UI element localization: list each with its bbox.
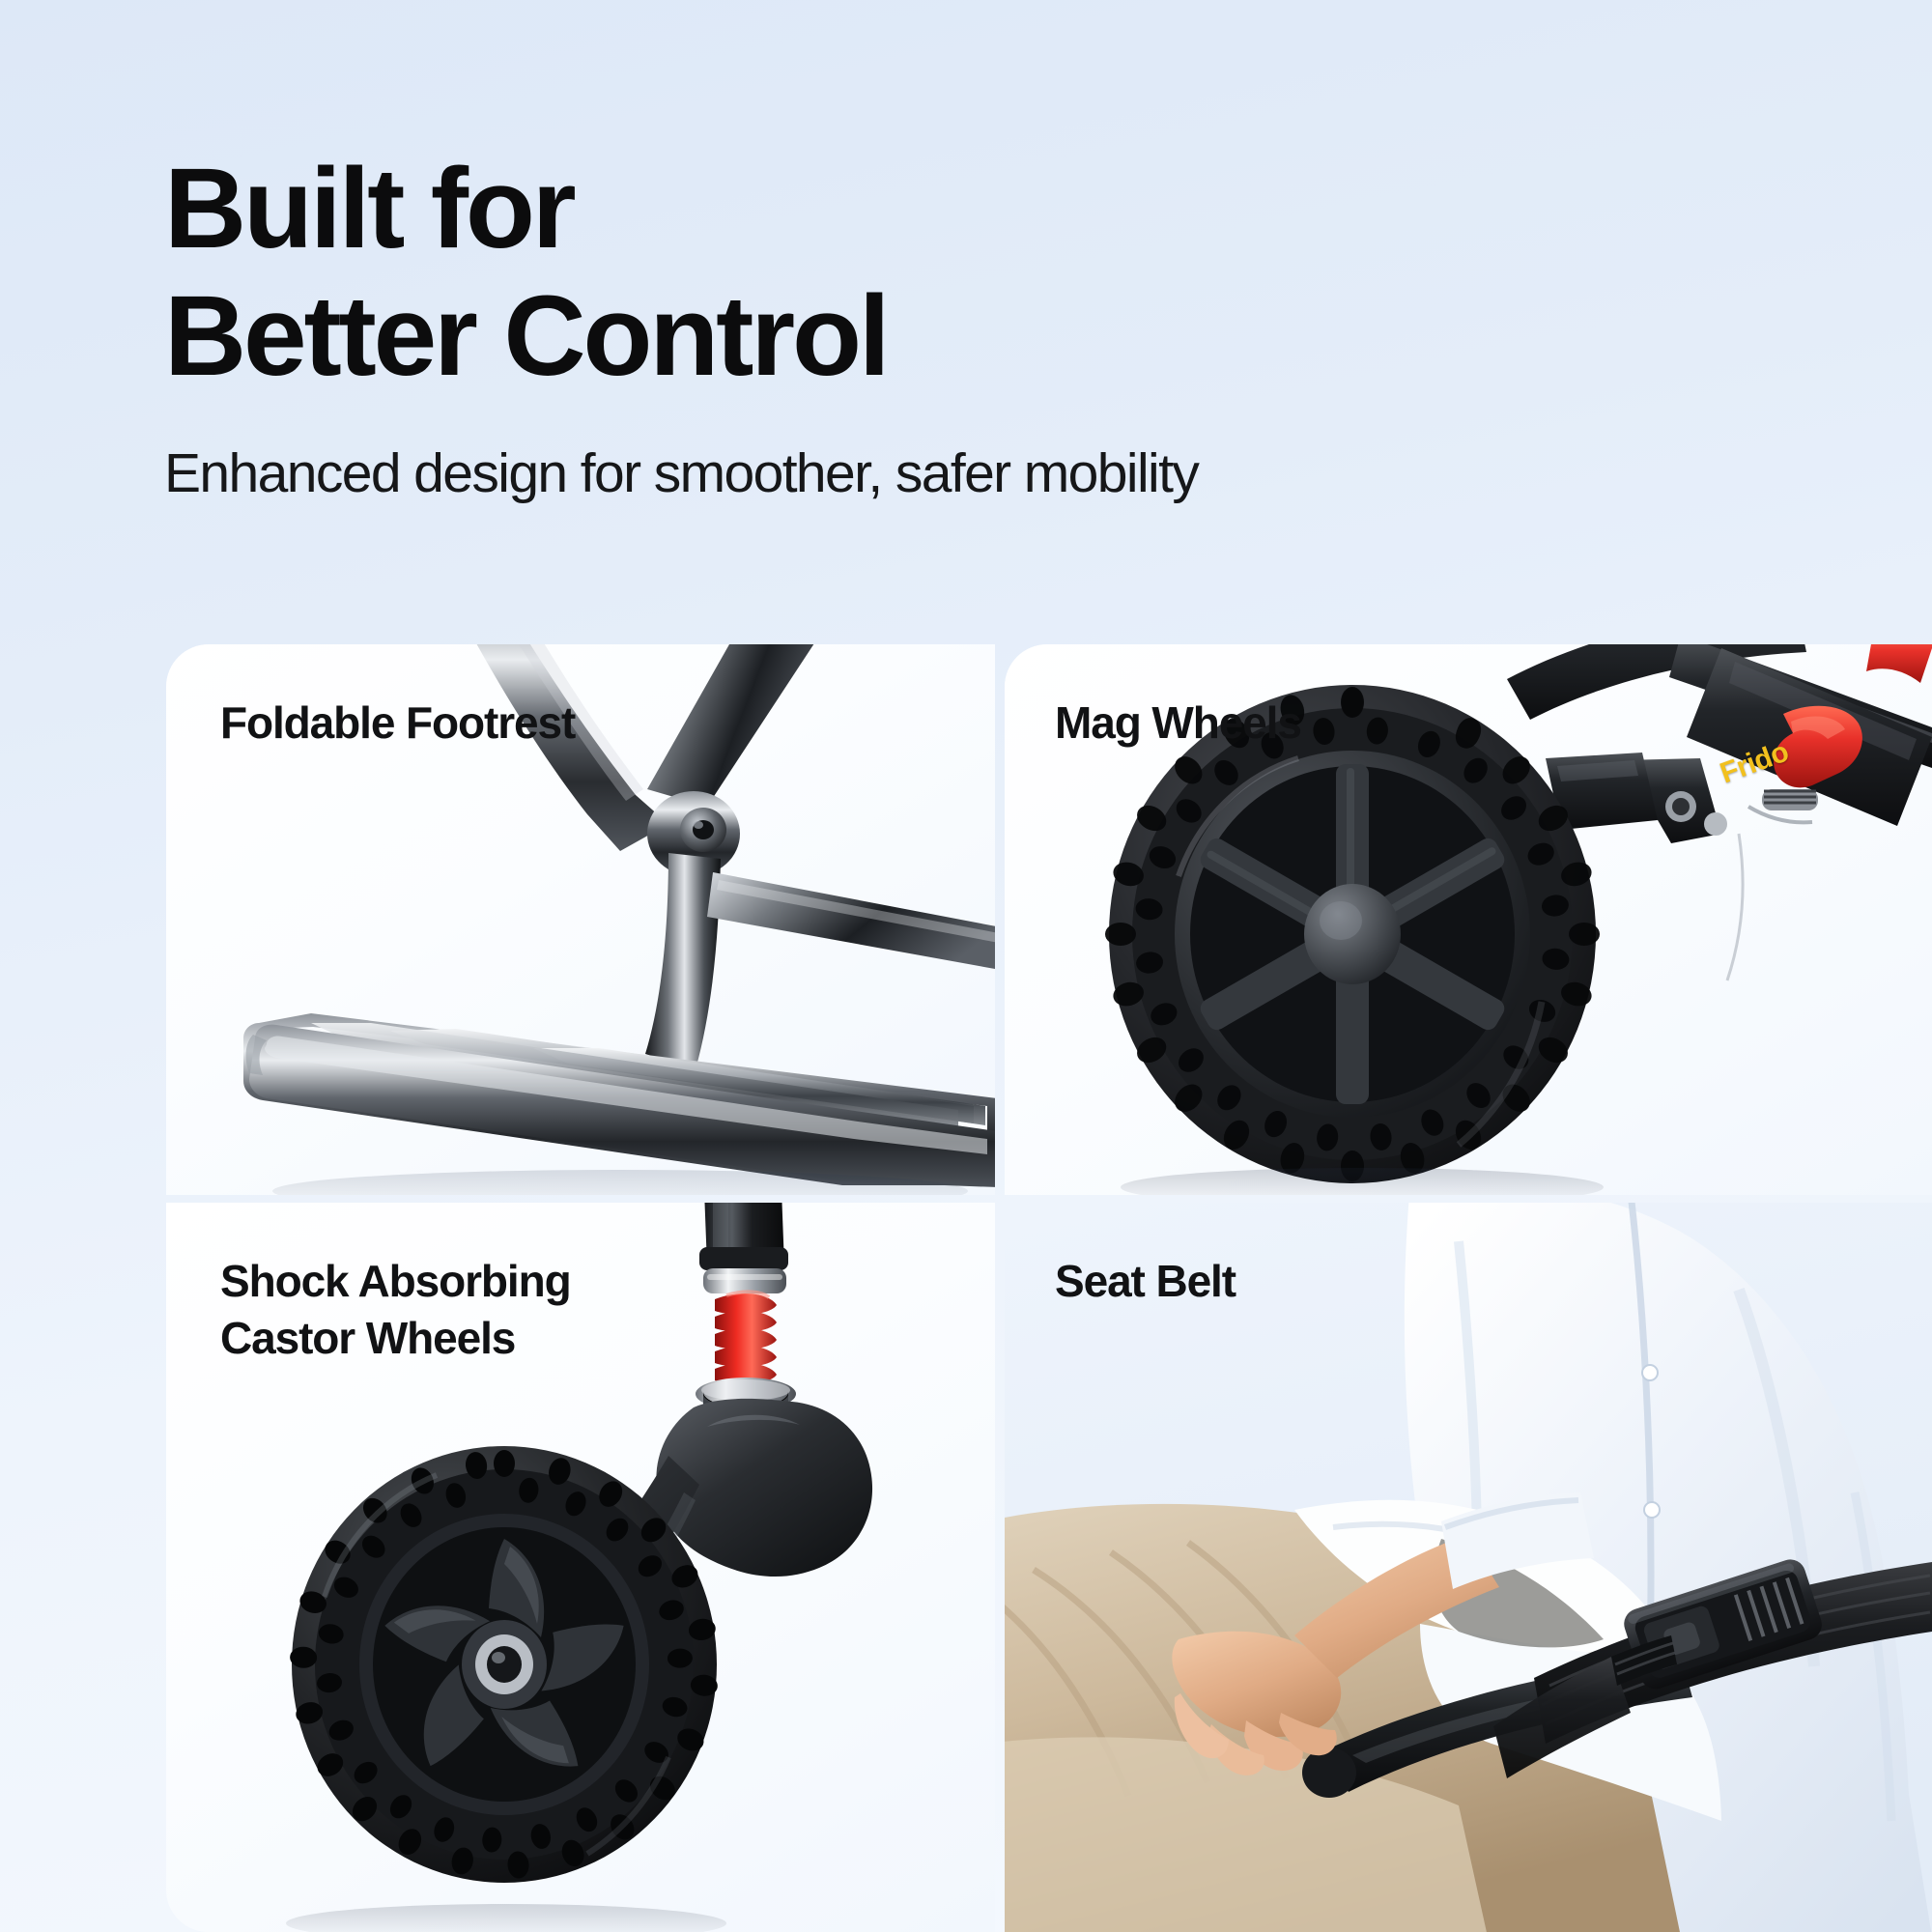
feature-card-seat-belt[interactable]: Seat Belt xyxy=(1005,1203,1932,1932)
feature-card-shock-absorbing-castor-wheels[interactable]: Shock Absorbing Castor Wheels xyxy=(166,1203,995,1932)
page-subtitle: Enhanced design for smoother, safer mobi… xyxy=(164,440,1806,508)
feature-card-foldable-footrest[interactable]: Foldable Footrest xyxy=(166,644,995,1195)
feature-card-grid: Foldable Footrest xyxy=(166,644,1932,1932)
feature-card-mag-wheels[interactable]: Frido Mag Wheels xyxy=(1005,644,1932,1195)
mag-wheel-photo xyxy=(1005,644,1932,1195)
seat-belt-photo xyxy=(1005,1203,1932,1932)
footrest-photo xyxy=(166,644,995,1195)
header: Built for Better Control Enhanced design… xyxy=(164,145,1806,508)
castor-wheel-photo xyxy=(166,1203,995,1932)
page-title: Built for Better Control xyxy=(164,145,1806,400)
